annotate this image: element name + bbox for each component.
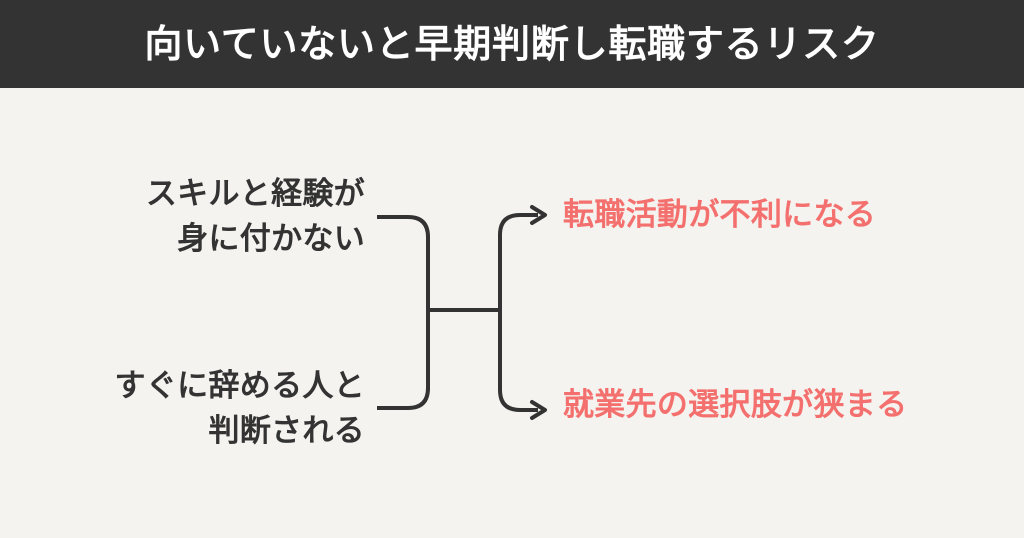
- effect-label-2: 就業先の選択肢が狭まる: [563, 385, 907, 425]
- split-path-bottom: [500, 310, 538, 410]
- effect-label-1: 転職活動が不利になる: [563, 195, 876, 235]
- header-bar: 向いていないと早期判断し転職するリスク: [0, 0, 1024, 88]
- split-path-top: [500, 215, 538, 310]
- connector-diagram: [0, 88, 1024, 538]
- merge-path-top: [377, 217, 428, 390]
- merge-path-bottom: [377, 310, 428, 408]
- slide-canvas: 向いていないと早期判断し転職するリスク スキルと経験が 身に付かない すぐに辞め…: [0, 0, 1024, 538]
- diagram-area: スキルと経験が 身に付かない すぐに辞める人と 判断される: [0, 88, 1024, 538]
- page-title: 向いていないと早期判断し転職するリスク: [144, 25, 879, 63]
